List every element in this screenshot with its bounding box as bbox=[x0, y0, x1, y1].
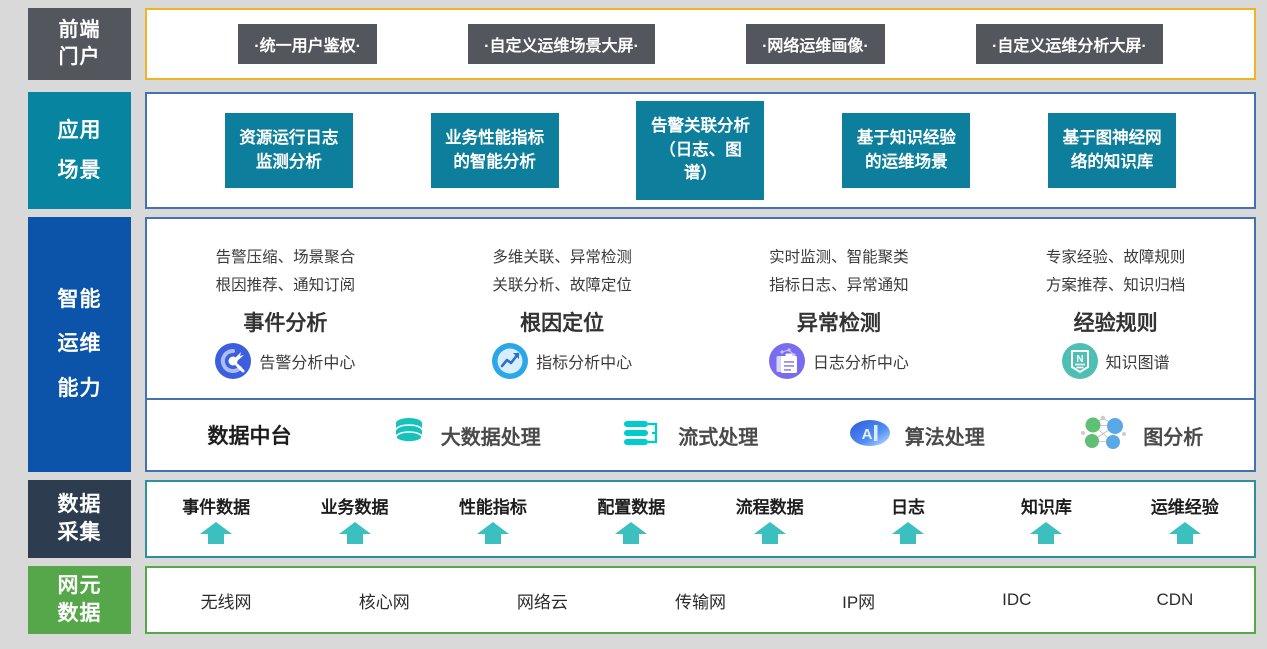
row-label-line: 采集 bbox=[58, 519, 102, 547]
stream-bars-icon bbox=[622, 416, 666, 455]
portal-chip-custom-ops-dashboard[interactable]: ·自定义运维场景大屏· bbox=[468, 24, 655, 64]
dmp-item-algorithm-processing[interactable]: A 算法处理 bbox=[803, 416, 1029, 455]
app-chip-business-performance-analysis[interactable]: 业务性能指标的智能分析 bbox=[431, 113, 559, 189]
row-label-front-end-portal: 前端 门户 bbox=[28, 8, 131, 80]
row-label-line: 门户 bbox=[59, 44, 101, 71]
app-chip-alarm-correlation-analysis[interactable]: 告警关联分析（日志、图谱） bbox=[636, 101, 764, 201]
dmp-item-label: 图分析 bbox=[1143, 421, 1203, 450]
capability-feature-line: 关联分析、故障定位 bbox=[492, 272, 632, 299]
capability-title: 异常检测 bbox=[797, 307, 881, 337]
collect-item-label: 流程数据 bbox=[736, 493, 804, 518]
ne-item-wireless-network[interactable]: 无线网 bbox=[147, 588, 305, 613]
dmp-item-big-data-processing[interactable]: 大数据处理 bbox=[352, 416, 578, 455]
application-chip-container: 资源运行日志监测分析 业务性能指标的智能分析 告警关联分析（日志、图谱） 基于知… bbox=[145, 92, 1256, 209]
capability-root-cause-location[interactable]: 多维关联、异常检测 关联分析、故障定位 根因定位 指标分析中心 bbox=[424, 219, 701, 398]
clipboard-log-icon bbox=[769, 343, 805, 379]
dmp-item-stream-processing[interactable]: 流式处理 bbox=[578, 416, 804, 455]
collect-item-performance-metrics[interactable]: 性能指标 bbox=[424, 482, 562, 556]
capability-title: 根因定位 bbox=[520, 307, 604, 337]
aiops-stack: 告警压缩、场景聚合 根因推荐、通知订阅 事件分析 bbox=[145, 217, 1256, 472]
ne-item-transport-network[interactable]: 传输网 bbox=[621, 588, 779, 613]
row-label-line: 数据 bbox=[58, 600, 102, 628]
capability-feature-line: 实时监测、智能聚类 bbox=[769, 244, 909, 271]
capability-event-analysis[interactable]: 告警压缩、场景聚合 根因推荐、通知订阅 事件分析 bbox=[147, 219, 424, 398]
collect-item-label: 性能指标 bbox=[459, 493, 527, 518]
collect-item-label: 业务数据 bbox=[321, 493, 389, 518]
capability-footer-label: 告警分析中心 bbox=[259, 349, 355, 373]
target-search-icon bbox=[215, 343, 251, 379]
capability-footer: 告警分析中心 bbox=[215, 343, 355, 379]
collect-item-label: 配置数据 bbox=[597, 493, 665, 518]
capability-columns: 告警压缩、场景聚合 根因推荐、通知订阅 事件分析 bbox=[145, 217, 1256, 400]
capability-feature-line: 告警压缩、场景聚合 bbox=[216, 244, 356, 271]
row-application-scenarios: 应用 场景 资源运行日志监测分析 业务性能指标的智能分析 告警关联分析（日志、图… bbox=[28, 92, 1256, 209]
app-chip-gnn-knowledge-base[interactable]: 基于图神经网络的知识库 bbox=[1048, 113, 1176, 189]
row-label-line: 应用 bbox=[58, 111, 102, 151]
dmp-item-graph-analysis[interactable]: 图分析 bbox=[1029, 413, 1255, 458]
collect-item-label: 日志 bbox=[891, 493, 925, 518]
dmp-item-label: 大数据处理 bbox=[441, 421, 541, 450]
dmp-item-label: 算法处理 bbox=[905, 421, 985, 450]
ne-item-core-network[interactable]: 核心网 bbox=[305, 588, 463, 613]
capability-title: 经验规则 bbox=[1074, 307, 1158, 337]
capability-feature-line: 多维关联、异常检测 bbox=[492, 244, 632, 271]
collect-item-label: 知识库 bbox=[1021, 493, 1072, 518]
collect-item-config-data[interactable]: 配置数据 bbox=[562, 482, 700, 556]
row-label-line: 数据 bbox=[58, 491, 102, 519]
capability-footer: 指标分析中心 bbox=[492, 343, 632, 379]
capability-feature-line: 根因推荐、通知订阅 bbox=[216, 272, 356, 299]
portal-chip-container: ·统一用户鉴权· ·自定义运维场景大屏· ·网络运维画像· ·自定义运维分析大屏… bbox=[145, 8, 1256, 80]
data-middle-platform-title: 数据中台 bbox=[147, 420, 352, 450]
graph-network-icon bbox=[1079, 413, 1131, 458]
up-arrow-icon bbox=[1168, 521, 1202, 545]
up-arrow-icon bbox=[891, 521, 925, 545]
row-label-network-element-data: 网元 数据 bbox=[28, 566, 131, 634]
capability-experience-rules[interactable]: 专家经验、故障规则 方案推荐、知识归档 经验规则 N bbox=[977, 219, 1254, 398]
capability-footer-label: 指标分析中心 bbox=[536, 349, 632, 373]
network-element-container: 无线网 核心网 网络云 传输网 IP网 IDC CDN bbox=[145, 566, 1256, 634]
up-arrow-icon bbox=[199, 521, 233, 545]
knowledge-doc-icon: N bbox=[1062, 343, 1098, 379]
capability-footer: 日志分析中心 bbox=[769, 343, 909, 379]
portal-chip-unified-auth[interactable]: ·统一用户鉴权· bbox=[238, 24, 377, 64]
up-arrow-icon bbox=[338, 521, 372, 545]
capability-feature-line: 方案推荐、知识归档 bbox=[1046, 272, 1186, 299]
architecture-diagram: 前端 门户 ·统一用户鉴权· ·自定义运维场景大屏· ·网络运维画像· ·自定义… bbox=[0, 0, 1267, 649]
collect-item-logs[interactable]: 日志 bbox=[839, 482, 977, 556]
data-middle-platform: 数据中台 大数据处理 bbox=[145, 400, 1256, 472]
capability-feature-line: 指标日志、异常通知 bbox=[769, 272, 909, 299]
up-arrow-icon bbox=[1029, 521, 1063, 545]
collect-item-business-data[interactable]: 业务数据 bbox=[285, 482, 423, 556]
ne-item-network-cloud[interactable]: 网络云 bbox=[463, 588, 621, 613]
row-label-intelligent-ops-capability: 智能 运维 能力 bbox=[28, 217, 131, 472]
database-icon bbox=[389, 416, 429, 455]
svg-text:A: A bbox=[861, 426, 872, 443]
collect-item-event-data[interactable]: 事件数据 bbox=[147, 482, 285, 556]
up-arrow-icon bbox=[476, 521, 510, 545]
collect-item-knowledge-base[interactable]: 知识库 bbox=[977, 482, 1115, 556]
capability-title: 事件分析 bbox=[243, 307, 327, 337]
row-label-line: 运维 bbox=[58, 322, 102, 366]
collect-item-label: 运维经验 bbox=[1151, 493, 1219, 518]
row-label-line: 场景 bbox=[58, 151, 102, 191]
app-chip-knowledge-experience-ops[interactable]: 基于知识经验的运维场景 bbox=[842, 113, 970, 189]
collect-item-process-data[interactable]: 流程数据 bbox=[701, 482, 839, 556]
portal-chip-network-ops-profile[interactable]: ·网络运维画像· bbox=[746, 24, 885, 64]
svg-text:N: N bbox=[1076, 354, 1083, 365]
capability-footer-label: 知识图谱 bbox=[1106, 349, 1170, 373]
row-label-line: 能力 bbox=[58, 367, 102, 411]
up-arrow-icon bbox=[614, 521, 648, 545]
portal-chip-custom-analysis-dashboard[interactable]: ·自定义运维分析大屏· bbox=[976, 24, 1163, 64]
row-network-element-data: 网元 数据 无线网 核心网 网络云 传输网 IP网 IDC CDN bbox=[28, 566, 1256, 634]
ne-item-ip-network[interactable]: IP网 bbox=[780, 588, 938, 613]
ne-item-cdn[interactable]: CDN bbox=[1096, 590, 1254, 610]
app-chip-resource-log-analysis[interactable]: 资源运行日志监测分析 bbox=[225, 113, 353, 189]
row-data-collection: 数据 采集 事件数据 业务数据 性能指标 bbox=[28, 480, 1256, 558]
row-front-end-portal: 前端 门户 ·统一用户鉴权· ·自定义运维场景大屏· ·网络运维画像· ·自定义… bbox=[28, 8, 1256, 80]
data-collection-container: 事件数据 业务数据 性能指标 配置数据 bbox=[145, 480, 1256, 558]
row-label-data-collection: 数据 采集 bbox=[28, 480, 131, 558]
capability-footer-label: 日志分析中心 bbox=[813, 349, 909, 373]
capability-feature-line: 专家经验、故障规则 bbox=[1046, 244, 1186, 271]
trend-arrow-icon bbox=[492, 343, 528, 379]
collect-item-ops-experience[interactable]: 运维经验 bbox=[1116, 482, 1254, 556]
dmp-item-label: 流式处理 bbox=[678, 421, 758, 450]
ne-item-idc[interactable]: IDC bbox=[938, 590, 1096, 610]
row-label-application-scenarios: 应用 场景 bbox=[28, 92, 131, 209]
row-label-line: 网元 bbox=[58, 572, 102, 600]
capability-footer: N 知识图谱 bbox=[1062, 343, 1170, 379]
row-label-line: 智能 bbox=[58, 278, 102, 322]
row-label-line: 前端 bbox=[59, 17, 101, 44]
ai-ellipse-icon: A bbox=[847, 416, 893, 455]
capability-anomaly-detection[interactable]: 实时监测、智能聚类 指标日志、异常通知 异常检测 bbox=[701, 219, 978, 398]
collect-item-label: 事件数据 bbox=[182, 493, 250, 518]
row-intelligent-ops-capability: 智能 运维 能力 告警压缩、场景聚合 根因推荐、通知订阅 事件分析 bbox=[28, 217, 1256, 472]
up-arrow-icon bbox=[753, 521, 787, 545]
